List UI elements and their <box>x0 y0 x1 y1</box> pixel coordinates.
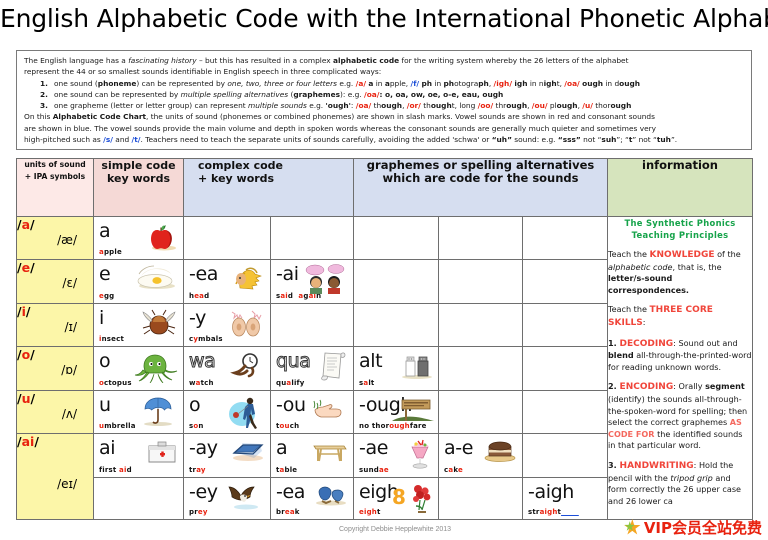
t: /a/ <box>356 79 366 88</box>
grapheme: qua <box>276 350 311 372</box>
grapheme: -ea <box>276 481 305 503</box>
t: 3. <box>608 460 620 470</box>
title-line: Teaching Principles <box>608 229 752 241</box>
ipa-primary: /a/ <box>17 217 93 232</box>
grapheme: -y <box>189 307 206 329</box>
t: ): e.g. <box>340 90 364 99</box>
key-word: apple <box>99 248 122 256</box>
t: ough <box>431 101 452 110</box>
t: and <box>113 135 132 144</box>
t: ough <box>506 101 527 110</box>
complex-cell-tray: -ay tray <box>184 434 271 478</box>
intro-line-6: high-pitched such as /s/ and /t/. Teache… <box>24 134 745 145</box>
t: ough <box>582 79 603 88</box>
tray-picture <box>230 438 266 462</box>
intro-numbered-1: 1. one sound (phoneme) can be represente… <box>40 78 745 89</box>
header-units-of-sound: units of sound + IPA symbols <box>17 159 94 217</box>
t: of the <box>715 249 741 259</box>
header-line: key words <box>94 172 183 185</box>
t: igh <box>544 79 557 88</box>
list-body: one sound (phoneme) can be represented b… <box>54 78 640 89</box>
apple-picture <box>145 221 179 251</box>
sp-principles-title: The Synthetic Phonics Teaching Principle… <box>608 217 752 241</box>
ipa-primary: /o/ <box>17 347 93 362</box>
t: pple, <box>390 79 411 88</box>
table-header-row: units of sound + IPA symbols simple code… <box>17 159 753 217</box>
info-paragraph-knowledge: Teach the KNOWLEDGE of the alphabetic co… <box>608 249 752 296</box>
grapheme-cell <box>439 304 523 347</box>
intro-line-1: The English language has a fascinating h… <box>24 55 745 66</box>
grapheme-cell <box>439 391 523 434</box>
grapheme-cell-sundae: -ae sundae <box>354 434 439 478</box>
grapheme: -ae <box>359 437 388 459</box>
t: e.g. <box>307 101 326 110</box>
grapheme: -ay <box>189 437 218 459</box>
grapheme-cell-eight: eigh eight 8 <box>354 478 439 520</box>
t: in <box>432 79 443 88</box>
simple-code-cell-a: a apple <box>94 217 184 260</box>
eight-roses-picture: 8 <box>392 482 434 514</box>
units-cell-u: /u/ /ʌ/ <box>17 391 94 434</box>
t: th <box>371 101 381 110</box>
complex-cell-watch: wa watch <box>184 347 271 391</box>
grapheme-cell <box>439 260 523 304</box>
simple-code-cell-i: i insect <box>94 304 184 347</box>
complex-cell-cymbals: -y cymbals <box>184 304 271 347</box>
t: “sss” <box>558 135 581 144</box>
t: phoneme <box>98 79 137 88</box>
ipa-primary: /e/ <box>17 260 93 275</box>
t: ough <box>619 79 640 88</box>
t: ” not “ <box>632 135 656 144</box>
son-picture <box>226 395 266 429</box>
signpost-picture <box>390 395 434 425</box>
t: ough <box>557 101 578 110</box>
list-body: one sound can be represented by multiple… <box>54 89 503 100</box>
cake-picture <box>482 438 518 462</box>
grapheme: o <box>189 394 200 416</box>
units-cell-a: /a/ /æ/ <box>17 217 94 260</box>
t: one sound ( <box>54 79 98 88</box>
grapheme: -ai <box>276 263 299 285</box>
t: /f/ <box>411 79 420 88</box>
t: one sound can be represented by <box>54 90 181 99</box>
vip-watermark: VIP会员全站免费 <box>624 519 762 536</box>
intro-text: The English language has a <box>24 56 128 65</box>
key-word: cake <box>444 466 463 474</box>
watermark-text: VIP会员全站免费 <box>644 520 762 536</box>
break-picture <box>313 482 349 506</box>
touch-picture <box>309 395 349 419</box>
t: letter/s-sound correspondences. <box>608 273 689 295</box>
t: /oa/ <box>564 79 579 88</box>
key-word: insect <box>99 335 124 343</box>
key-word: touch <box>276 422 299 430</box>
t: /oo/ <box>478 101 494 110</box>
ipa-secondary: /æ/ <box>17 233 93 248</box>
ipa-letter: ai <box>22 434 35 449</box>
t: pl <box>548 101 557 110</box>
grapheme-cell <box>523 391 608 434</box>
t: ough <box>610 101 631 110</box>
intro-text: for the writing system whereby the 26 le… <box>399 56 628 65</box>
intro-text: – but this has resulted in a complex <box>197 56 333 65</box>
t: /s/ <box>103 135 113 144</box>
copyright-text: Copyright Debbie Hepplewhite 2013 <box>339 526 451 533</box>
complex-cell-head: -ea head <box>184 260 271 304</box>
grapheme-cell <box>439 217 523 260</box>
t: otogra <box>454 79 478 88</box>
grapheme-cell <box>523 304 608 347</box>
t: : <box>643 317 646 327</box>
alphabetic-code-table: units of sound + IPA symbols simple code… <box>16 158 753 520</box>
t: On this <box>24 112 53 121</box>
t: “uh” <box>492 135 512 144</box>
ipa-letter: u <box>22 391 31 406</box>
units-cell-e: /e/ /ɛ/ <box>17 260 94 304</box>
t: th <box>421 101 431 110</box>
ipa-letter: e <box>22 260 30 275</box>
talking-heads-picture <box>303 264 349 294</box>
t: suh <box>601 135 616 144</box>
t: graphemes <box>293 90 340 99</box>
info-paragraph-core-skills: Teach the THREE CORE SKILLS: <box>608 304 752 329</box>
header-information: information <box>608 159 753 217</box>
ipa-secondary: /ɒ/ <box>17 363 93 378</box>
t: one, two, three or four letters <box>227 79 337 88</box>
t: : o, oa, ow, oe, o-e, eau, ough <box>379 90 503 99</box>
units-cell-ai: /ai/ /eɪ/ <box>17 434 94 520</box>
t: 1. <box>608 338 620 348</box>
salt-picture <box>400 351 434 379</box>
key-word: qualify <box>276 379 305 387</box>
grapheme: -ey <box>189 481 218 503</box>
eagle-picture <box>226 482 266 510</box>
grapheme: u <box>99 394 111 416</box>
header-line: units of sound <box>17 159 93 171</box>
t: igh <box>514 79 527 88</box>
header-line: + key words <box>198 172 353 185</box>
alphabetic-code-chart-page: English Alphabetic Code with the Interna… <box>0 0 768 540</box>
key-word: tray <box>189 466 206 474</box>
t: HANDWRITING <box>620 461 694 471</box>
simple-code-cell-ai: ai first aid <box>94 434 184 478</box>
t: ph <box>478 79 489 88</box>
info-paragraph-handwriting: 3. HANDWRITING: Hold the pencil with the… <box>608 460 752 507</box>
octopus-picture <box>131 351 179 383</box>
complex-cell-said: -ai said again <box>271 260 354 304</box>
t: in d <box>603 79 619 88</box>
header-line: complex code <box>198 159 353 172</box>
t: thor <box>593 101 611 110</box>
header-line: simple code <box>94 159 183 172</box>
complex-cell <box>271 304 354 347</box>
t: ough <box>381 101 402 110</box>
complex-cell-break: -ea break <box>271 478 354 520</box>
t: blend <box>608 350 634 360</box>
t: in n <box>527 79 543 88</box>
t: not “ <box>581 135 602 144</box>
t: t, long <box>452 101 478 110</box>
grapheme-cell <box>354 304 439 347</box>
grapheme-cell <box>523 347 608 391</box>
intro-line-5: are shown in blue. The vowel sounds prov… <box>24 123 745 134</box>
svg-text:8: 8 <box>392 485 406 509</box>
key-word: watch <box>189 379 214 387</box>
t: , that is, the <box>673 262 722 272</box>
list-number: 2. <box>40 89 54 100</box>
grapheme-cell-cake: a-e cake <box>439 434 523 478</box>
t: . Teachers need to teach the separate un… <box>140 135 491 144</box>
ipa-primary: /i/ <box>17 304 93 319</box>
t: Teach the <box>608 304 650 314</box>
watch-picture <box>230 351 266 381</box>
t: ENCODING <box>620 382 674 392</box>
t: : Orally <box>673 381 705 391</box>
intro-numbered-3: 3. one grapheme (letter or letter group)… <box>40 100 745 111</box>
grapheme-cell <box>354 217 439 260</box>
ipa-primary: /u/ <box>17 391 93 406</box>
simple-code-cell-empty <box>94 478 184 520</box>
key-word: umbrella <box>99 422 136 430</box>
grapheme: a-e <box>444 437 473 459</box>
key-word: head <box>189 292 209 300</box>
t: DECODING <box>620 339 674 349</box>
t: high-pitched such as <box>24 135 103 144</box>
simple-code-cell-u: u umbrella <box>94 391 184 434</box>
grapheme: -ea <box>189 263 218 285</box>
grapheme: ai <box>99 437 115 459</box>
t: Teach the <box>608 249 650 259</box>
grapheme-cell <box>523 260 608 304</box>
key-word: salt <box>359 379 374 387</box>
head-picture <box>226 264 266 292</box>
star-icon <box>624 519 641 536</box>
grapheme-cell <box>354 260 439 304</box>
cymbals-picture <box>226 308 266 338</box>
grapheme: e <box>99 263 110 285</box>
grapheme-cell <box>439 347 523 391</box>
t: multiple sounds <box>248 101 307 110</box>
ipa-letter: o <box>22 347 31 362</box>
t: ph <box>422 79 433 88</box>
insect-picture <box>139 308 179 340</box>
key-word: egg <box>99 292 114 300</box>
t: segment <box>705 381 745 391</box>
list-number: 3. <box>40 100 54 111</box>
ipa-secondary: /ʌ/ <box>17 407 93 422</box>
t: ”; “ <box>616 135 629 144</box>
t: ) can be represented by <box>136 79 227 88</box>
key-word: straight <box>528 508 579 516</box>
header-complex-code: complex code + key words <box>184 159 354 217</box>
simple-code-cell-o: o octopus <box>94 347 184 391</box>
t: KNOWLEDGE <box>650 250 715 260</box>
first-aid-picture <box>145 438 179 466</box>
grapheme: wa <box>189 350 215 372</box>
t: 'ough' <box>325 101 350 110</box>
grapheme: alt <box>359 350 382 372</box>
t: /or/ <box>407 101 421 110</box>
t: 2. <box>608 381 620 391</box>
intro-line-2: represent the 44 or so smallest sounds i… <box>24 66 745 77</box>
complex-cell-table: a table <box>271 434 354 478</box>
grapheme-cell-straight: -aigh straight <box>523 478 608 520</box>
complex-cell-qualify: qua qualify <box>271 347 354 391</box>
t: ”. <box>671 135 677 144</box>
intro-italic: fascinating history <box>128 56 196 65</box>
grapheme: -aigh <box>528 481 574 503</box>
complex-cell <box>271 217 354 260</box>
intro-bold: alphabetic code <box>333 56 399 65</box>
t: tuh <box>657 135 671 144</box>
t: alphabetic code <box>608 262 673 272</box>
ipa-secondary: /ɪ/ <box>17 320 93 335</box>
grapheme: a <box>276 437 287 459</box>
grapheme-cell <box>523 434 608 478</box>
header-line: + IPA symbols <box>17 171 93 183</box>
t: multiple spelling alternatives <box>181 90 289 99</box>
key-word: table <box>276 466 297 474</box>
ipa-primary: /ai/ <box>17 434 93 449</box>
list-body: one grapheme (letter or letter group) ca… <box>54 100 631 111</box>
page-title: English Alphabetic Code with the Interna… <box>0 4 768 33</box>
header-line: information <box>608 159 752 172</box>
info-paragraph-decoding: 1. DECODING: Sound out and blend all-thr… <box>608 338 752 374</box>
units-cell-i: /i/ /ɪ/ <box>17 304 94 347</box>
header-graphemes: graphemes or spelling alternatives which… <box>354 159 608 217</box>
ipa-letter: a <box>22 217 30 232</box>
grapheme-cell-thoroughfare: -ough no thoroughfare <box>354 391 439 434</box>
t: ph <box>444 79 455 88</box>
grapheme-cell-salt: alt salt <box>354 347 439 391</box>
key-word: break <box>276 508 300 516</box>
header-line: which are code for the sounds <box>354 172 607 185</box>
list-number: 1. <box>40 78 54 89</box>
simple-code-cell-e: e egg <box>94 260 184 304</box>
t: Alphabetic Code Chart <box>53 112 146 121</box>
header-simple-code: simple code key words <box>94 159 184 217</box>
scroll-picture <box>315 351 349 381</box>
t: /oa/ <box>356 101 371 110</box>
grapheme: i <box>99 307 104 329</box>
ipa-letter: i <box>22 304 26 319</box>
t: , the units of sound (phonemes or combin… <box>146 112 655 121</box>
table-row: /a/ /æ/ a apple The Synthetic Phonics Te… <box>17 217 753 260</box>
key-word: sundae <box>359 466 389 474</box>
grapheme: a <box>99 220 110 242</box>
t: /oa/ <box>364 90 379 99</box>
intro-panel: The English language has a fascinating h… <box>16 50 752 150</box>
t: one grapheme (letter or letter group) ca… <box>54 101 248 110</box>
t: /igh/ <box>494 79 512 88</box>
title-line: The Synthetic Phonics <box>608 217 752 229</box>
t: : Sound out and <box>673 338 737 348</box>
t: thr <box>493 101 506 110</box>
ipa-secondary: /eɪ/ <box>17 477 93 492</box>
units-cell-o: /o/ /ɒ/ <box>17 347 94 391</box>
grapheme-cell <box>439 478 523 520</box>
complex-cell <box>184 217 271 260</box>
egg-picture <box>133 264 179 290</box>
t: /ou/ <box>532 101 548 110</box>
key-word: son <box>189 422 204 430</box>
complex-cell-son: o son <box>184 391 271 434</box>
key-word: cymbals <box>189 335 223 343</box>
t: tripod grip <box>670 473 712 483</box>
key-word: octopus <box>99 379 132 387</box>
info-paragraph-encoding: 2. ENCODING: Orally segment (identify) t… <box>608 381 752 452</box>
grapheme: o <box>99 350 110 372</box>
key-word: prey <box>189 508 208 516</box>
complex-cell-prey: -ey prey <box>184 478 271 520</box>
sundae-picture <box>406 438 434 470</box>
key-word: first aid <box>99 466 132 474</box>
intro-line-4: On this Alphabetic Code Chart, the units… <box>24 111 745 122</box>
table-picture <box>311 438 349 464</box>
grapheme-cell <box>523 217 608 260</box>
umbrella-picture <box>141 395 179 427</box>
t: (identify) the sounds all-through-the-sp… <box>608 394 747 427</box>
t: /u/ <box>582 101 593 110</box>
t: e.g. <box>337 79 356 88</box>
t: in <box>373 79 384 88</box>
intro-numbered-2: 2. one sound can be represented by multi… <box>40 89 745 100</box>
ipa-secondary: /ɛ/ <box>17 276 93 291</box>
complex-cell-touch: -ou touch <box>271 391 354 434</box>
grapheme: -ou <box>276 394 306 416</box>
t: sound: e.g. <box>512 135 558 144</box>
key-word: eight <box>359 508 381 516</box>
information-cell: The Synthetic Phonics Teaching Principle… <box>608 217 753 520</box>
